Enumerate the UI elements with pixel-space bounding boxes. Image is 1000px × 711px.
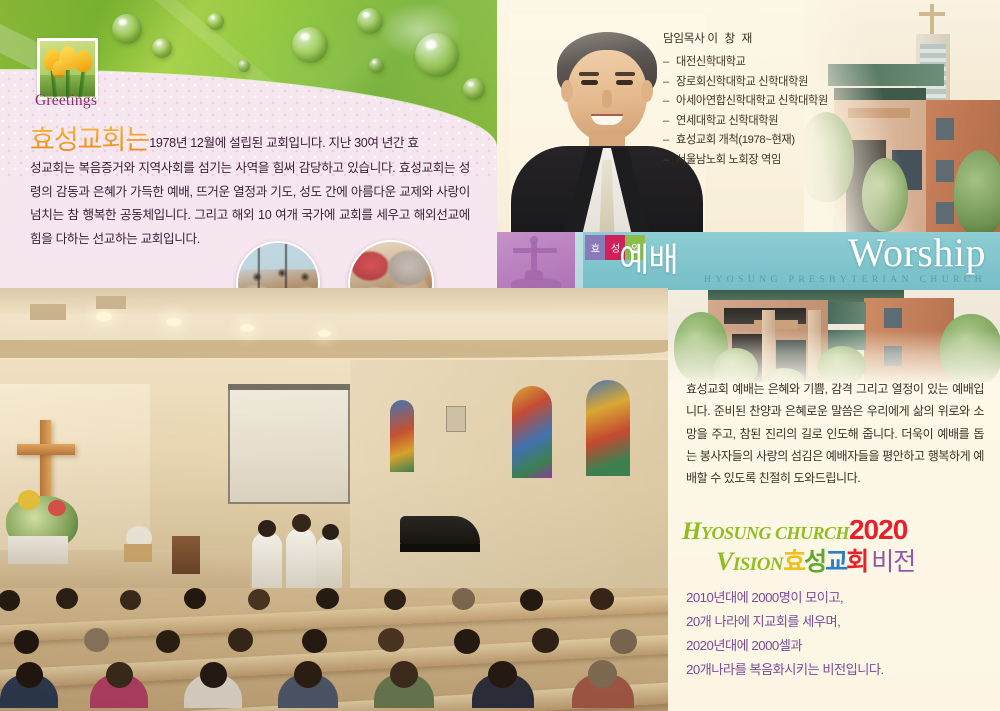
vision-word-text: VISION [716,547,783,576]
pastor-profile-panel: 담임목사 이 창 재 대전신학대학교 장로회신학대학교 신학대학원 아세아연합신… [497,0,1000,232]
credential-item: 아세아연합신학대학교 신학대학원 [663,92,873,112]
water-droplet-icon [369,58,384,73]
credential-item: 서울남노회 노회장 역임 [663,151,873,171]
worship-section-banner: 효 성 의 예배 Worship HYOSUNG PRESBYTERIAN CH… [497,232,1000,290]
pastor-name-line: 담임목사 이 창 재 [663,30,873,46]
banner-divider [575,232,583,290]
youth-orchestra-photo [236,241,320,288]
water-droplet-icon [207,13,224,30]
elderly-man-praying-photo [348,240,434,288]
sanctuary-congregation-photo [0,288,668,711]
worship-korean-title: 예배 [619,243,678,276]
water-droplet-icon [112,14,142,44]
vision-korean-church-name: 효성교회 [783,548,867,576]
vision-statement-line: 20개나라를 복음화시키는 비전입니다. [686,658,986,682]
photo-fade-overlay [668,330,1000,382]
greetings-section-label: Greetings [35,92,97,110]
vision-statement-line: 2010년대에 2000명이 모이고, [686,586,986,610]
worship-and-vision-panel: 효성교회 예배는 은혜와 기쁨, 감격 그리고 열정이 있는 예배입니다. 준비… [668,290,1000,711]
tulip-flowers-icon [40,41,95,97]
vision-heading: HYOSUNG CHURCH2020 VISION효성교회비전 [682,516,992,575]
tulip-logo-frame [37,38,98,100]
greetings-body-text: 성교회는 복음증거와 지역사회를 섬기는 사역을 힘써 감당하고 있습니다. 효… [30,157,470,251]
greetings-first-line: 1978년 12월에 설립된 교회입니다. 지난 30여 년간 효 [149,136,418,150]
vision-statement: 2010년대에 2000명이 모이고, 20개 나라에 지교회를 세우며, 20… [686,586,986,682]
worship-banner-subtitle: HYOSUNG PRESBYTERIAN CHURCH [704,274,986,285]
greetings-headline: 효성교회는 [30,125,149,155]
vision-statement-line: 2020년대에 2000셀과 [686,634,986,658]
vision-statement-line: 20개 나라에 지교회를 세우며, [686,610,986,634]
pastor-title-prefix: 담임목사 [663,32,704,45]
church-exterior-building-photo [668,290,1000,382]
water-droplet-icon [357,8,383,34]
credential-item: 대전신학대학교 [663,53,873,73]
banner-block-hyo: 효 [585,235,605,260]
credential-item: 연세대학교 신학대학원 [663,112,873,132]
pastor-credentials-block: 담임목사 이 창 재 대전신학대학교 장로회신학대학교 신학대학원 아세아연합신… [663,30,873,171]
worship-description-text: 효성교회 예배는 은혜와 기쁨, 감격 그리고 열정이 있는 예배입니다. 준비… [686,378,984,489]
water-droplet-icon [238,60,250,72]
water-droplet-icon [463,78,485,100]
credential-item: 장로회신학대학교 신학대학원 [663,73,873,93]
greetings-text-block: 효성교회는1978년 12월에 설립된 교회입니다. 지난 30여 년간 효 성… [30,118,470,251]
brochure-page: Greetings 효성교회는1978년 12월에 설립된 교회입니다. 지난 … [0,0,1000,711]
vision-year-2020: 2020 [849,514,907,545]
water-droplet-icon [415,33,459,77]
water-droplet-icon [152,38,172,58]
vision-korean-vision-word: 비전 [871,548,915,576]
vision-heading-line1: HYOSUNG CHURCH2020 [682,516,992,544]
vision-heading-line2: VISION효성교회비전 [682,549,992,575]
credential-item: 효성교회 개척(1978~현재) [663,131,873,151]
greetings-panel: Greetings 효성교회는1978년 12월에 설립된 교회입니다. 지난 … [0,0,497,288]
worship-english-title: Worship [848,232,986,275]
water-droplet-icon [292,27,328,63]
vision-hyosung-church-text: HYOSUNG CHURCH [682,518,849,545]
christ-the-redeemer-statue-icon [497,232,575,290]
pastor-name: 이 창 재 [707,32,753,45]
